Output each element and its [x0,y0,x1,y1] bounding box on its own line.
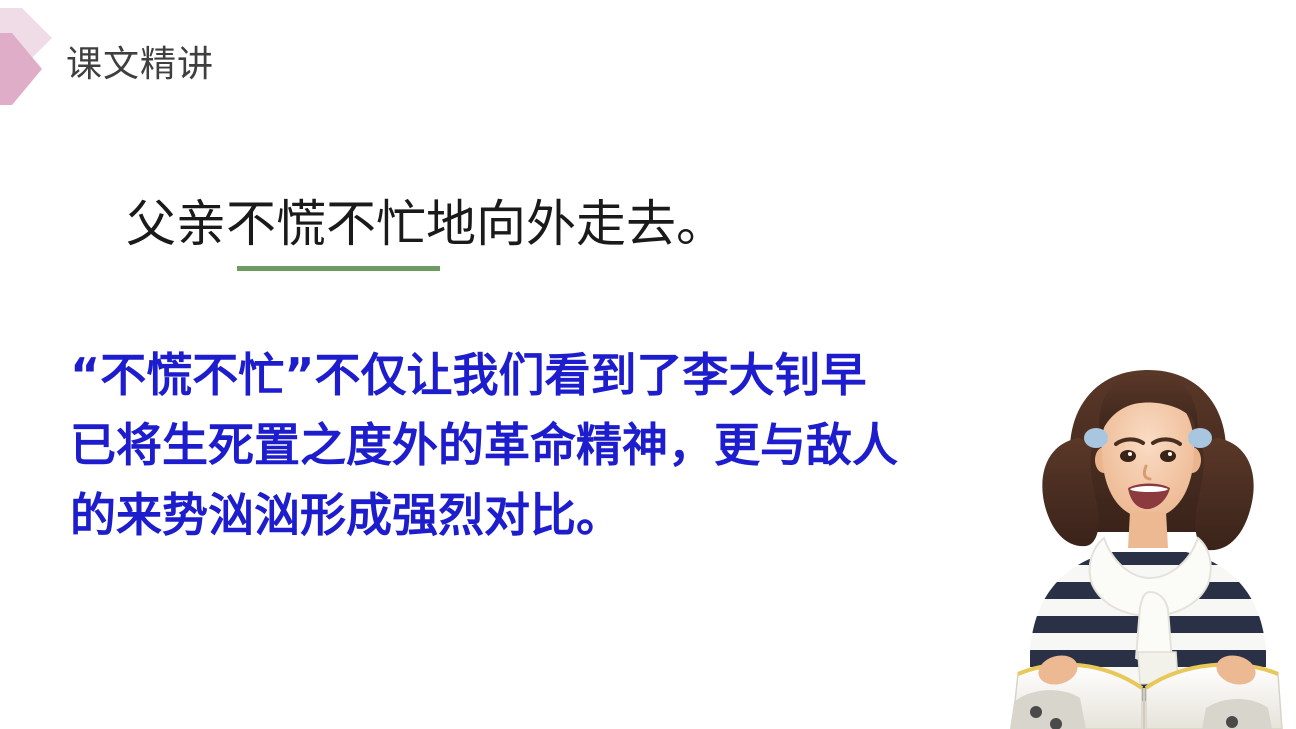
commentary-line-2: 已将生死置之度外的革命精神，更与敌人 [70,410,970,480]
student-photo [1000,352,1296,729]
page-title: 课文精讲 [66,42,214,88]
chevron-dark-icon [0,33,42,105]
top-left-chevron-decoration [0,0,70,120]
quote-block: 父亲不慌不忙地向外走去。 [126,194,906,254]
commentary-paragraph: “不慌不忙”不仅让我们看到了李大钊早 已将生死置之度外的革命精神，更与敌人 的来… [70,340,970,550]
neck [1128,512,1168,548]
quote-underline [237,266,440,271]
quote-text: 父亲不慌不忙地向外走去。 [126,194,906,254]
chevron-light-icon [0,8,52,68]
commentary-line-1: “不慌不忙”不仅让我们看到了李大钊早 [70,340,970,410]
commentary-line-3: 的来势汹汹形成强烈对比。 [70,480,970,550]
slide-canvas: 课文精讲 父亲不慌不忙地向外走去。 “不慌不忙”不仅让我们看到了李大钊早 已将生… [0,0,1296,729]
